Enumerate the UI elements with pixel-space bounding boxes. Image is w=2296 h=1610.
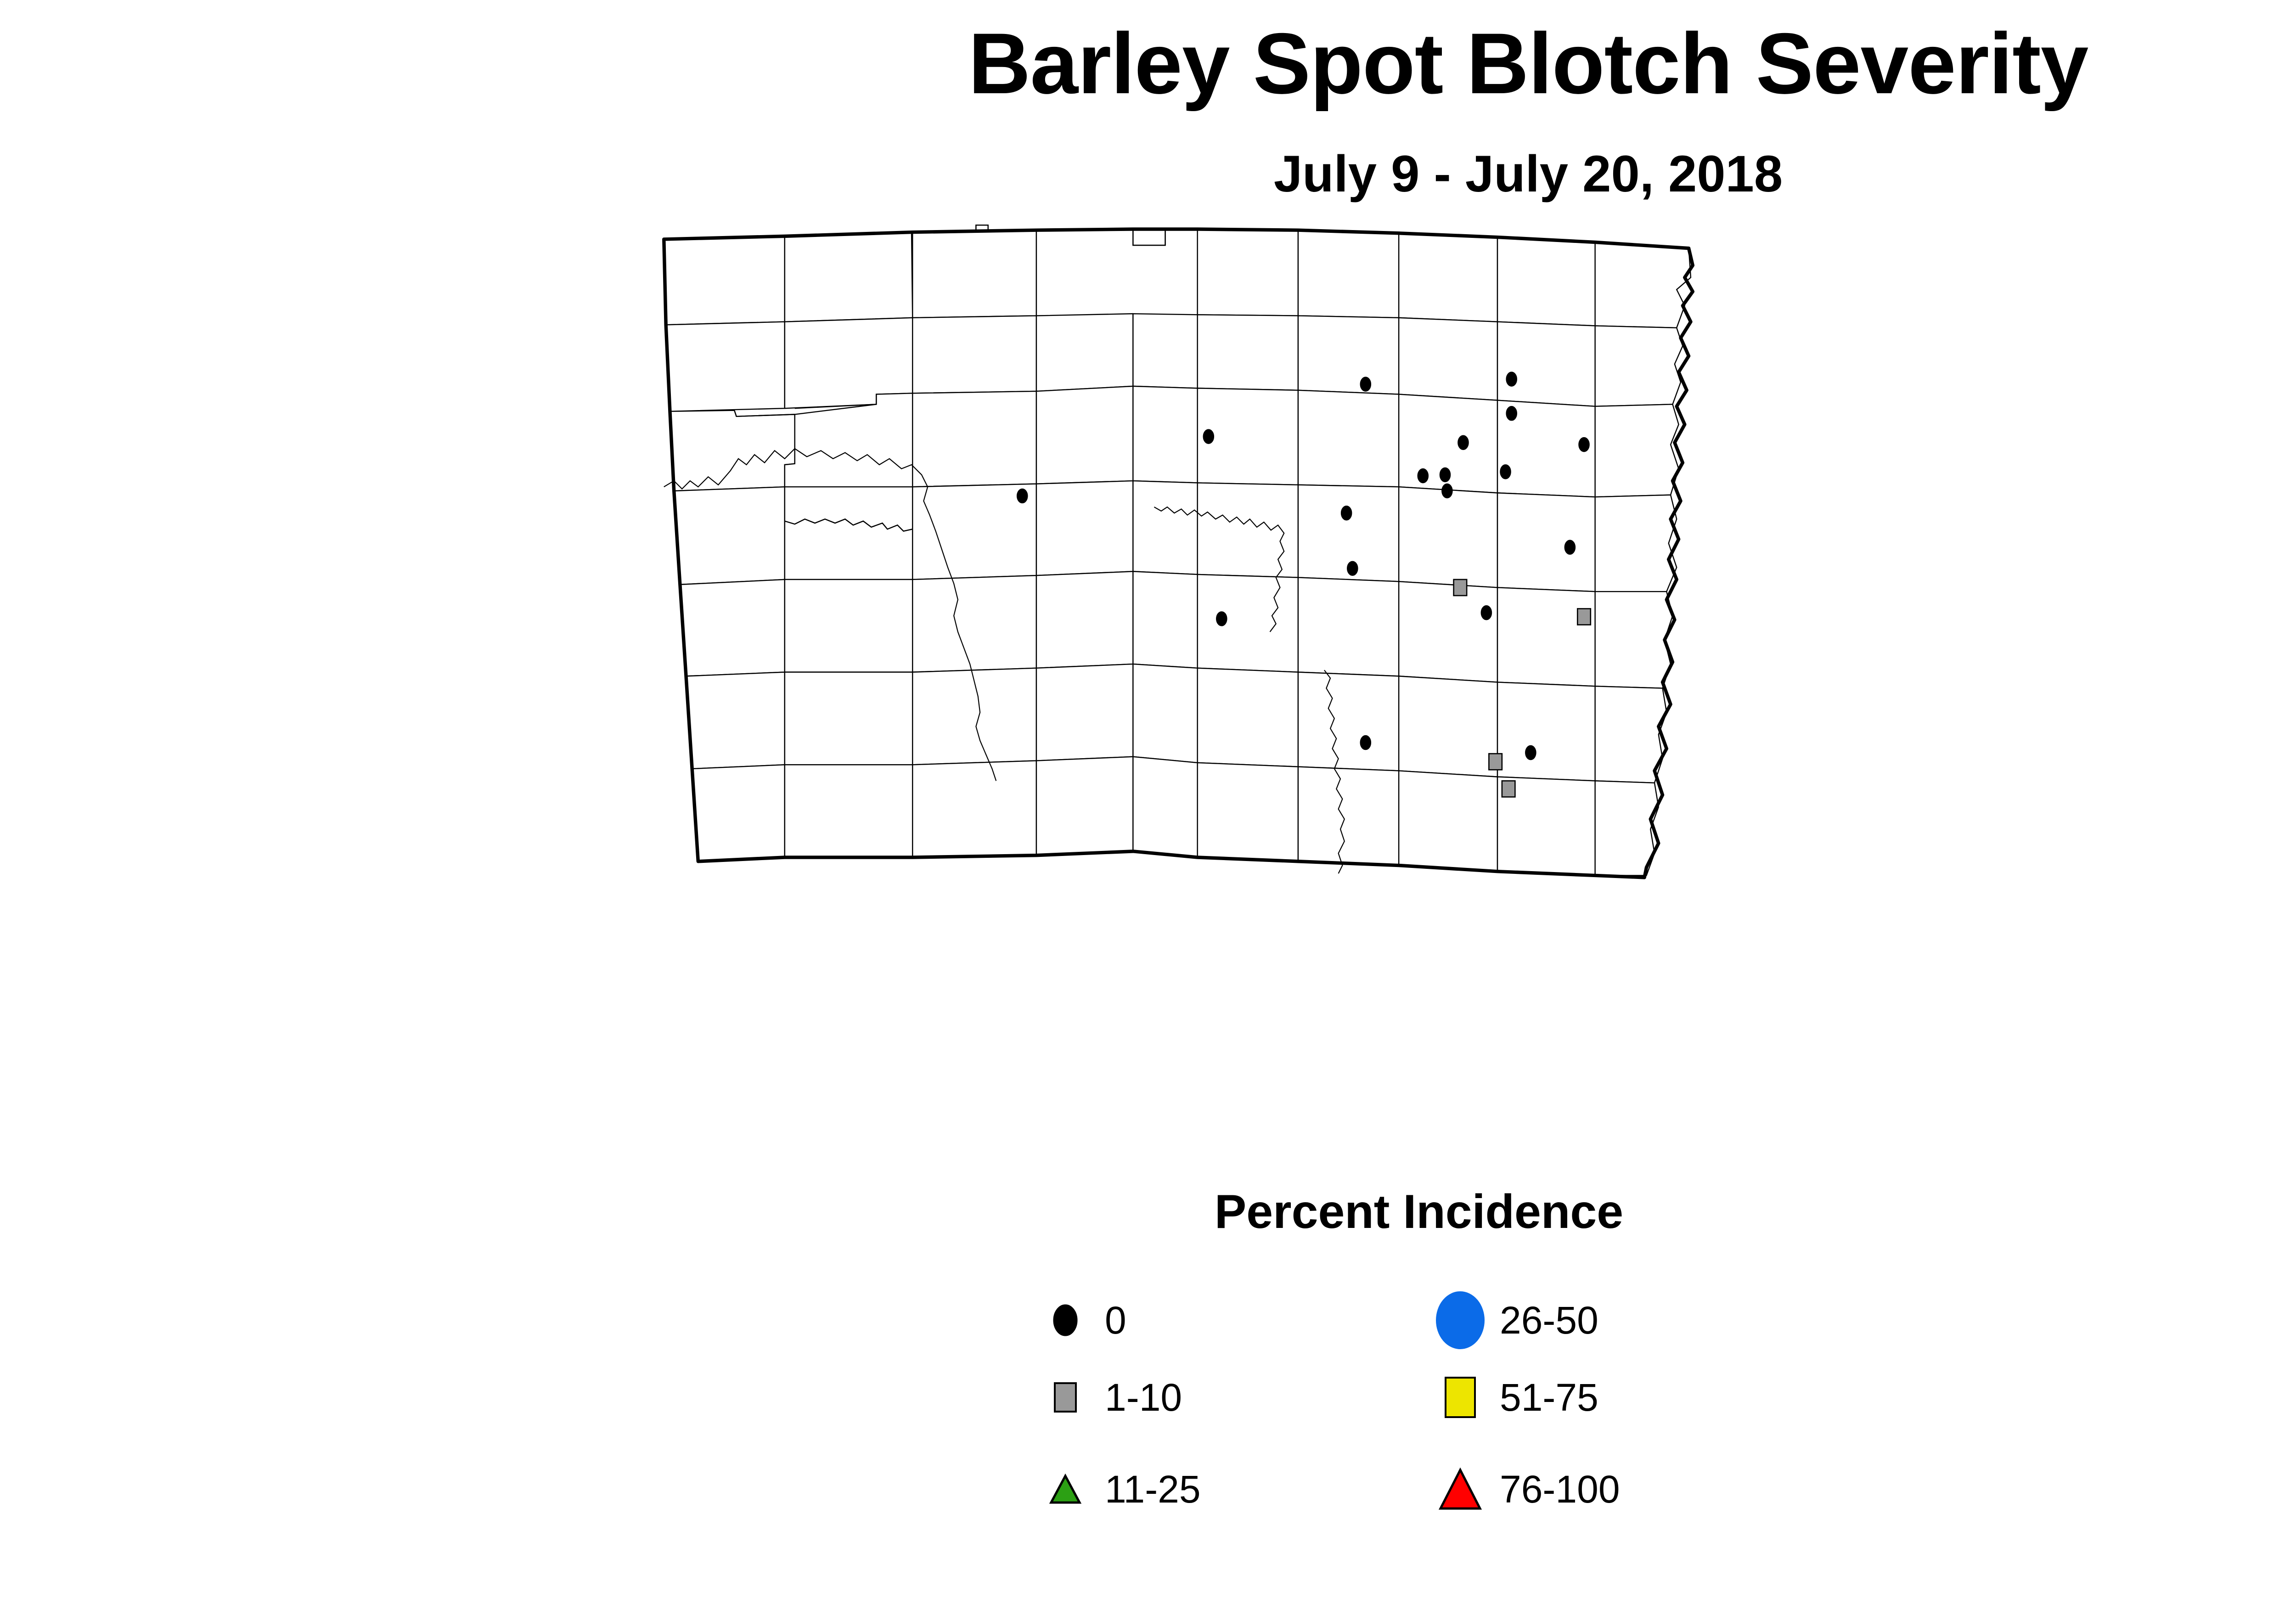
legend-label: 76-100 (1500, 1470, 1620, 1509)
north-dakota-map (634, 216, 2204, 1185)
map-marker-0 (1347, 561, 1358, 575)
map-marker-0 (1418, 469, 1428, 483)
legend-item-0[interactable]: 0 (1038, 1286, 1126, 1355)
legend-item-1-10[interactable]: 1-10 (1038, 1363, 1182, 1432)
map-marker-0 (1442, 484, 1452, 498)
figure-canvas: Barley Spot Blotch Severity July 9 - Jul… (0, 0, 2296, 1610)
legend-symbol-circle-icon (1433, 1290, 1488, 1350)
legend-symbol-square-icon (1433, 1368, 1488, 1427)
legend-grid: 01-1011-2526-5051-7576-100 (1038, 1286, 2048, 1571)
legend-symbol-triangle-icon (1038, 1459, 1093, 1519)
square-icon (1446, 1378, 1475, 1417)
legend-label: 26-50 (1500, 1301, 1598, 1340)
county-boundaries (664, 225, 1691, 875)
map-legend: Percent Incidence 01-1011-2526-5051-7576… (634, 1185, 2204, 1589)
circle-icon (1436, 1292, 1484, 1349)
map-marker-0 (1360, 377, 1371, 391)
legend-title: Percent Incidence (634, 1185, 2204, 1239)
map-marker-0 (1458, 435, 1469, 450)
map-marker-0 (1360, 736, 1371, 750)
map-marker-0 (1564, 540, 1575, 554)
map-marker-1-10 (1577, 609, 1591, 625)
map-marker-0 (1216, 612, 1227, 626)
legend-label: 51-75 (1500, 1378, 1598, 1417)
legend-symbol-circle-icon (1038, 1290, 1093, 1350)
legend-symbol-square-icon (1038, 1368, 1093, 1427)
legend-item-26-50[interactable]: 26-50 (1433, 1286, 1598, 1355)
map-svg (634, 216, 2204, 1185)
map-marker-0 (1506, 406, 1517, 421)
triangle-icon (1441, 1470, 1480, 1509)
circle-icon (1053, 1305, 1077, 1336)
legend-item-76-100[interactable]: 76-100 (1433, 1455, 1620, 1524)
map-marker-0 (1525, 746, 1536, 760)
map-marker-0 (1017, 489, 1028, 503)
page-subtitle: July 9 - July 20, 2018 (0, 147, 2296, 201)
legend-label: 11-25 (1105, 1470, 1201, 1509)
legend-item-51-75[interactable]: 51-75 (1433, 1363, 1598, 1432)
legend-item-11-25[interactable]: 11-25 (1038, 1455, 1201, 1524)
map-marker-1-10 (1502, 781, 1515, 797)
map-marker-0 (1481, 606, 1491, 620)
map-marker-1-10 (1454, 580, 1467, 596)
map-marker-0 (1506, 372, 1517, 386)
page-title: Barley Spot Blotch Severity (0, 18, 2296, 109)
map-marker-0 (1341, 506, 1352, 520)
map-marker-0 (1440, 468, 1451, 482)
map-marker-0 (1203, 429, 1214, 444)
legend-label: 0 (1105, 1301, 1126, 1340)
legend-label: 1-10 (1105, 1378, 1182, 1417)
square-icon (1055, 1383, 1076, 1412)
map-marker-1-10 (1489, 754, 1502, 770)
map-marker-0 (1579, 438, 1589, 452)
legend-symbol-triangle-icon (1433, 1459, 1488, 1519)
triangle-icon (1051, 1476, 1080, 1503)
map-marker-0 (1500, 465, 1511, 479)
